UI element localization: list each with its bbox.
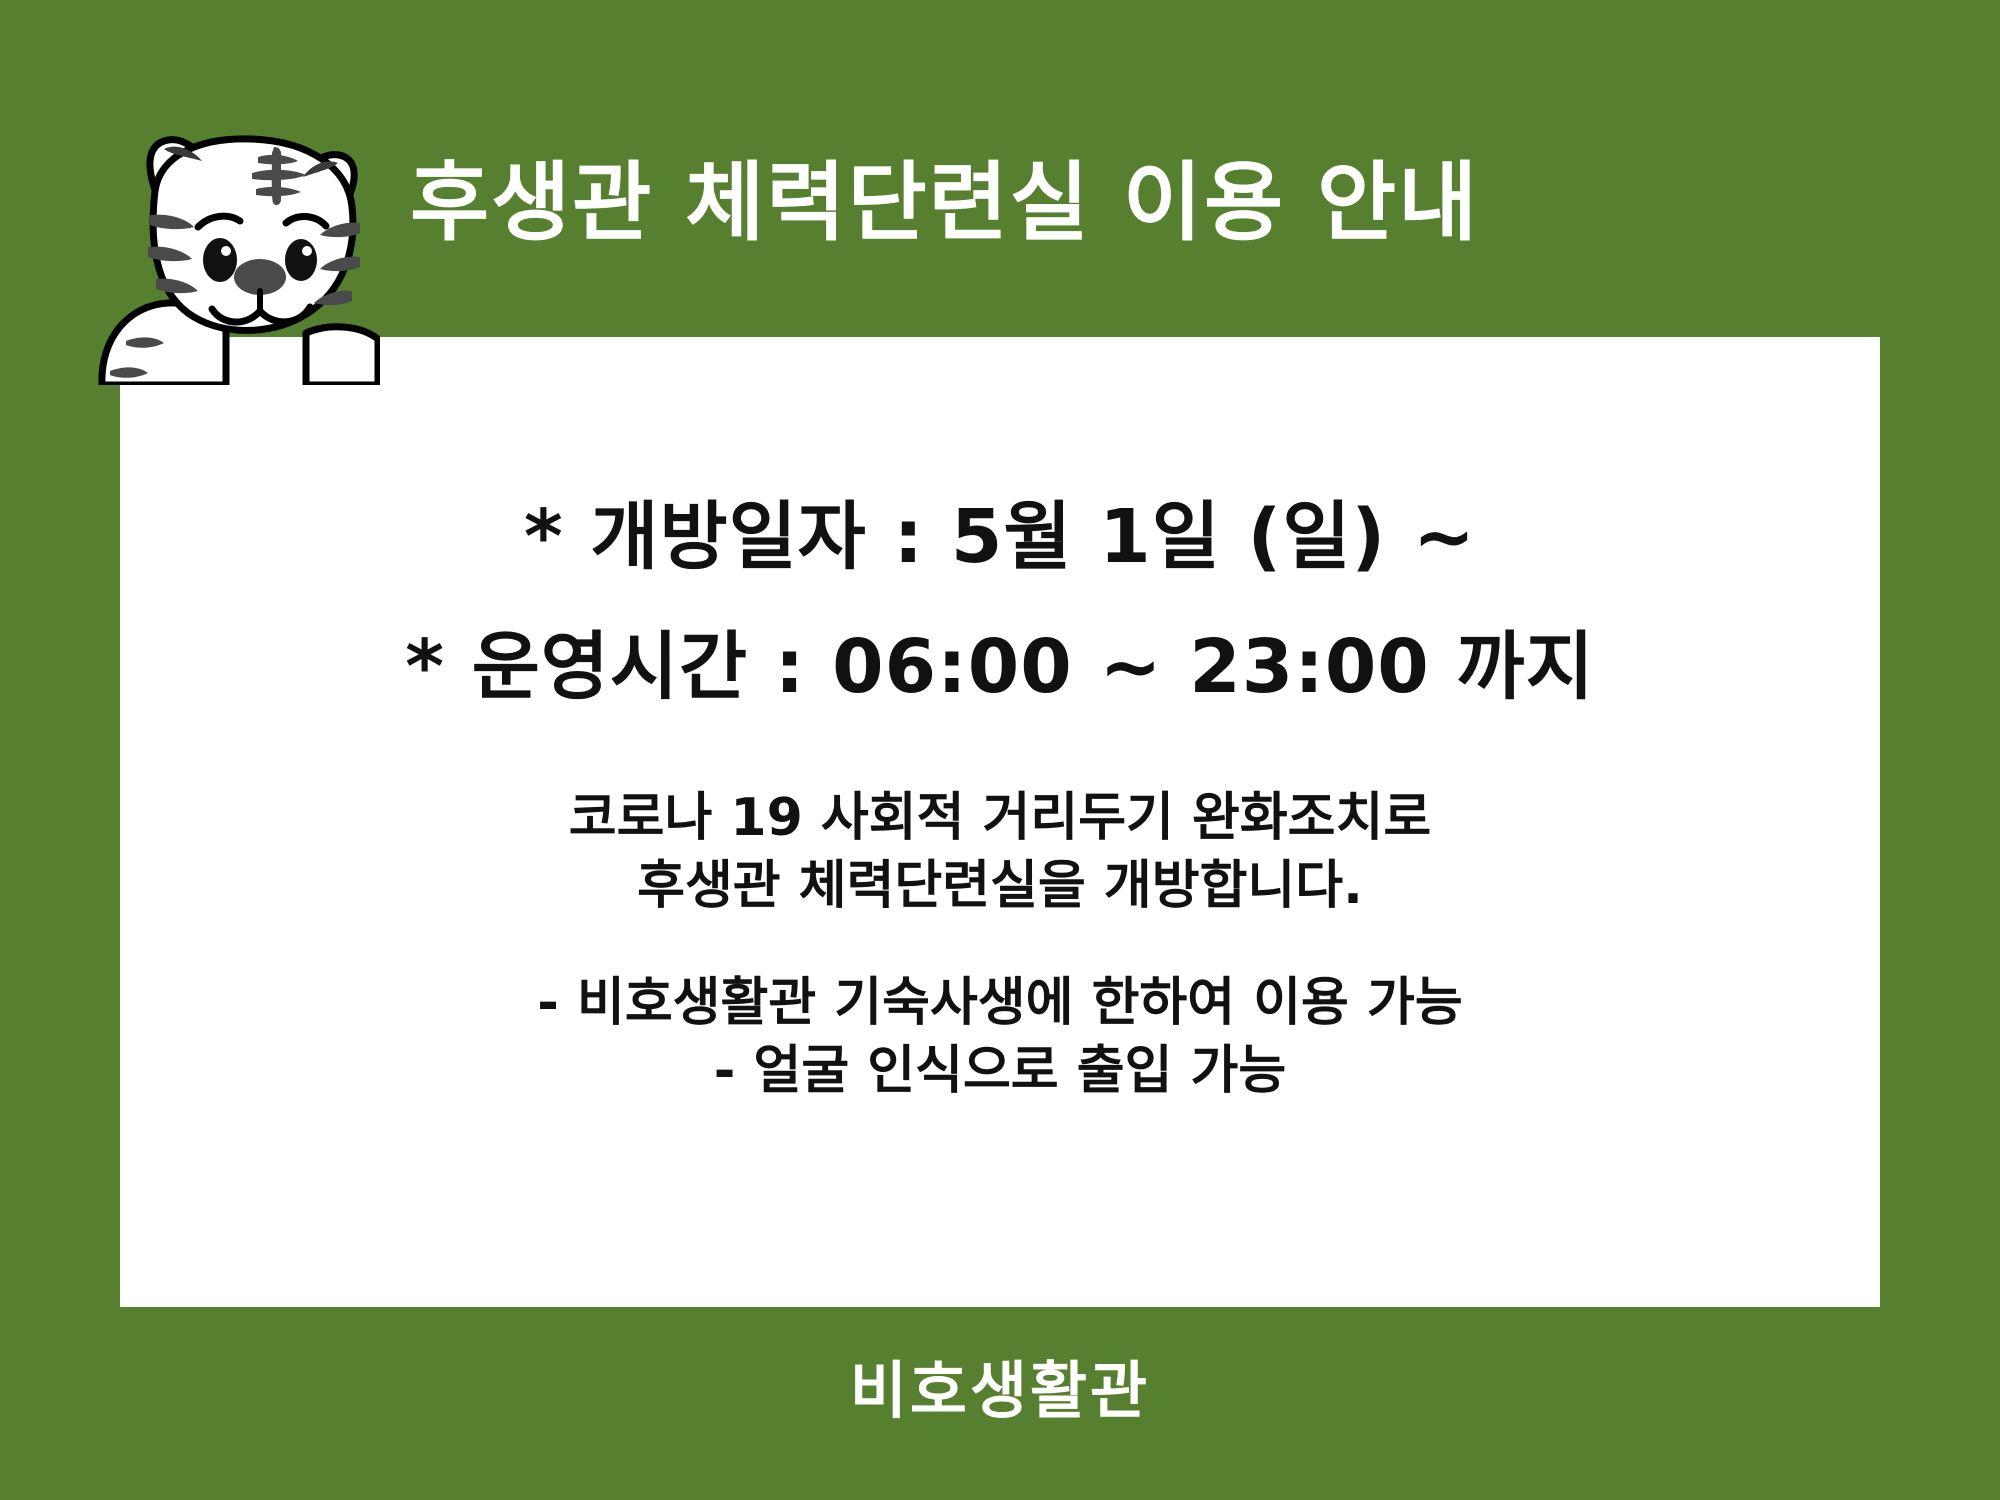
notice-paragraph: 코로나 19 사회적 거리두기 완화조치로후생관 체력단련실을 개방합니다. (120, 785, 1880, 920)
footer-label: 비호생활관 (0, 1340, 2000, 1430)
page-title: 후생관 체력단련실 이용 안내 (410, 160, 1770, 246)
content-panel: * 개방일자 : 5월 1일 (일) ~ * 운영시간 : 06:00 ~ 23… (120, 337, 1880, 1307)
operating-hours-line: * 운영시간 : 06:00 ~ 23:00 까지 (120, 630, 1880, 704)
bullets-paragraph: - 비호생활관 기숙사생에 한하여 이용 가능- 얼굴 인식으로 출입 가능 (120, 970, 1880, 1105)
open-date-line: * 개방일자 : 5월 1일 (일) ~ (120, 500, 1880, 574)
notice-poster: 후생관 체력단련실 이용 안내 * 개방일자 : 5월 1일 (일) ~ * 운… (0, 0, 2000, 1500)
white-tiger-mascot-icon (60, 95, 380, 385)
